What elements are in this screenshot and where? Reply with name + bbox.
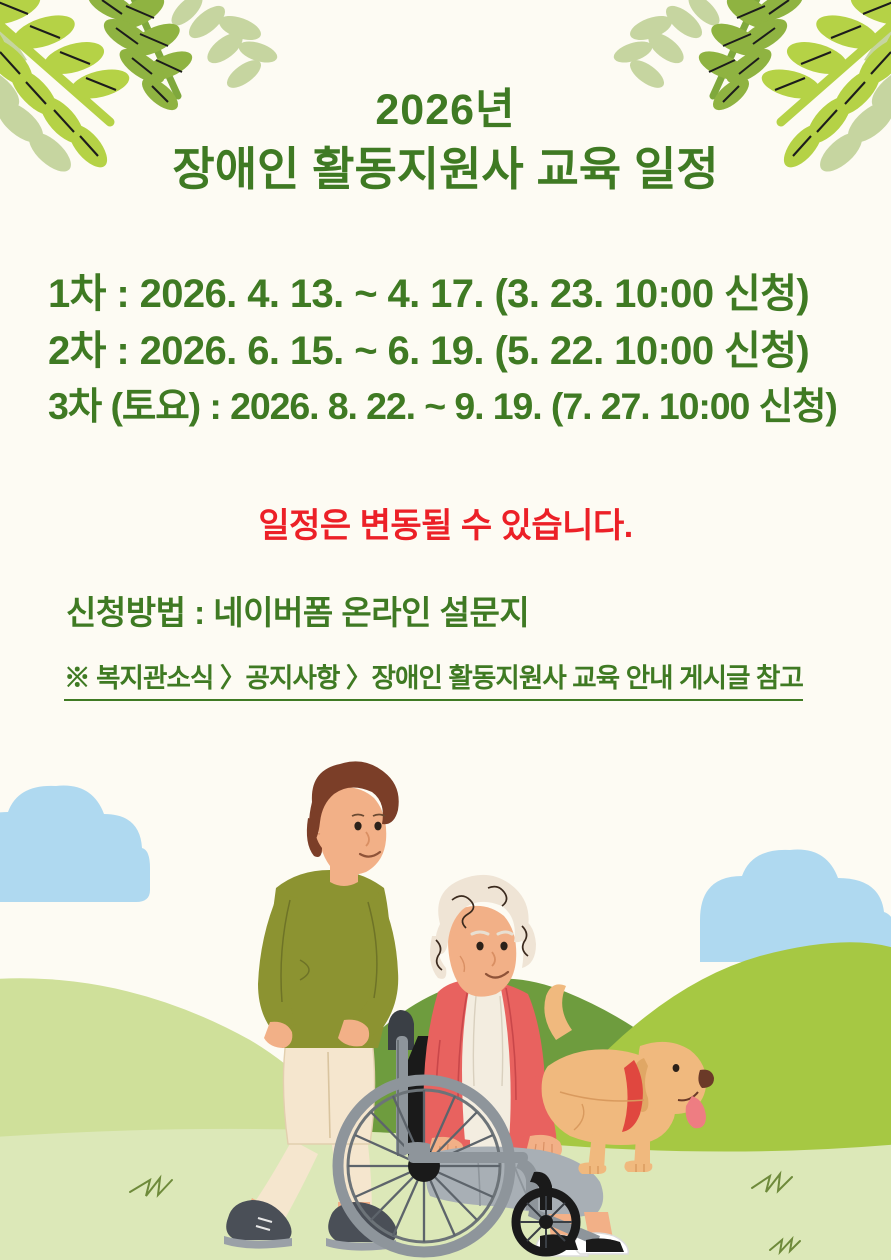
schedule-change-notice: 일정은 변동될 수 있습니다. (0, 498, 891, 547)
poster-title-block: 2026년 장애인 활동지원사 교육 일정 (0, 88, 891, 199)
apply-method-text: 신청방법 : 네이버폼 온라인 설문지 (66, 586, 529, 634)
park-illustration (0, 740, 891, 1260)
elder-face (448, 906, 516, 997)
schedule-line-1: 1차 : 2026. 4. 13. ~ 4. 17. (3. 23. 10:00… (48, 266, 843, 323)
schedule-list: 1차 : 2026. 4. 13. ~ 4. 17. (3. 23. 10:00… (0, 266, 891, 433)
poster-root: 2026년 장애인 활동지원사 교육 일정 1차 : 2026. 4. 13. … (0, 0, 891, 1260)
page-title: 장애인 활동지원사 교육 일정 (0, 141, 891, 199)
dog-eye (673, 1064, 680, 1072)
schedule-line-3: 3차 (토요) : 2026. 8. 22. ~ 9. 19. (7. 27. … (48, 380, 843, 433)
title-year: 2026년 (0, 88, 891, 133)
apply-reference-text: ※ 복지관소식 〉공지사항 〉장애인 활동지원사 교육 안내 게시글 참고 (64, 656, 803, 701)
schedule-line-2: 2차 : 2026. 6. 15. ~ 6. 19. (5. 22. 10:00… (48, 323, 843, 380)
